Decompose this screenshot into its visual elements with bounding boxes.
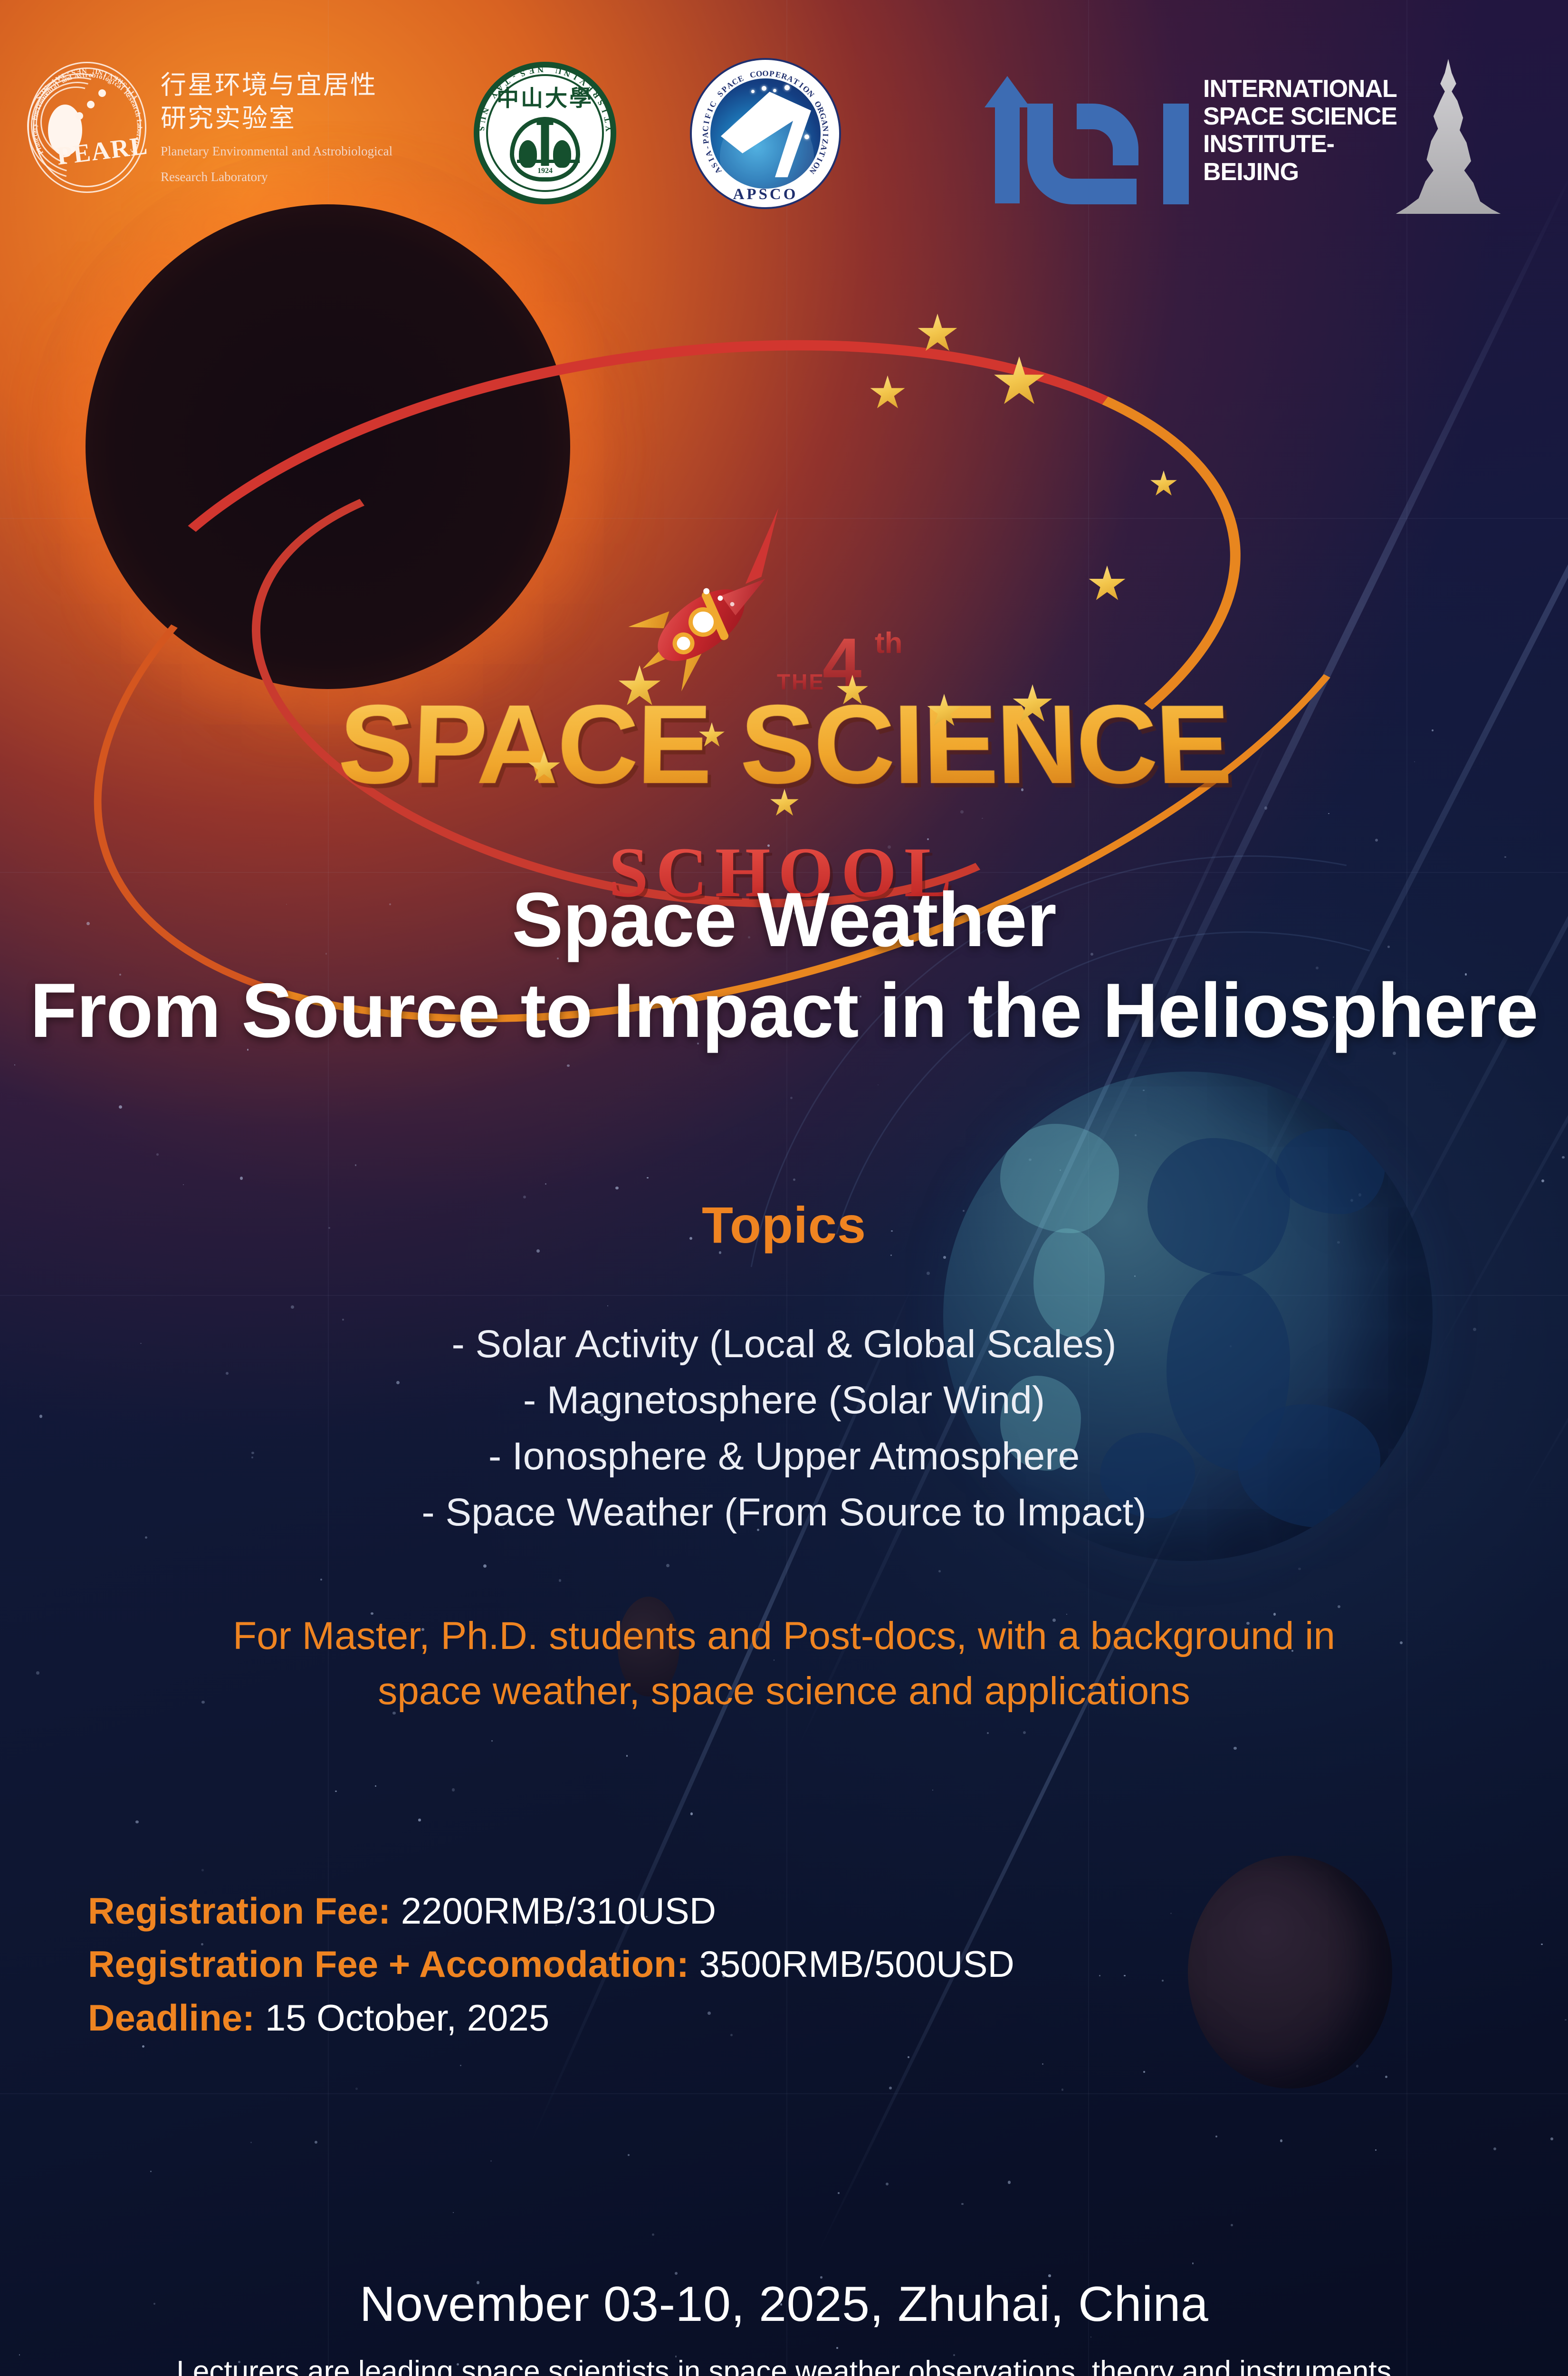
background-star: [675, 2272, 678, 2275]
background-star: [886, 2183, 889, 2185]
background-star: [961, 2203, 963, 2205]
topics-heading: Topics: [0, 1195, 1568, 1255]
apsco-acronym: APSCO: [692, 186, 839, 203]
background-star: [1143, 2071, 1145, 2073]
ring-text-char: N: [820, 125, 830, 132]
ring-text-char: I: [821, 134, 830, 137]
topic-item: - Solar Activity (Local & Global Scales): [0, 1316, 1568, 1372]
background-star: [790, 1097, 793, 1099]
edition-ordinal-suffix: th: [875, 626, 903, 660]
pagoda-icon: [1391, 59, 1505, 214]
background-star: [483, 1564, 487, 1568]
fee-value: 3500RMB/500USD: [699, 1943, 1014, 1985]
background-star: [1280, 2139, 1283, 2142]
pearl-english-line2: Research Laboratory: [161, 168, 392, 186]
background-star: [250, 2142, 252, 2144]
ring-text-char: T: [602, 116, 613, 124]
dark-planet-graphic: [1188, 1856, 1392, 2089]
background-star: [1170, 1913, 1172, 1914]
ring-text-char: N: [563, 67, 572, 79]
background-star: [142, 2045, 144, 2048]
grid-line-horizontal: [0, 2093, 1568, 2094]
topics-list: - Solar Activity (Local & Global Scales)…: [0, 1316, 1568, 1541]
background-star: [908, 2056, 909, 2058]
background-star: [666, 1564, 669, 1567]
poster-canvas: Planetary Environmental and Astrobiologi…: [0, 0, 1568, 2376]
background-star: [150, 2171, 151, 2172]
ring-text-char: Y: [488, 89, 500, 100]
background-star: [355, 2088, 358, 2090]
background-star: [490, 2160, 492, 2162]
background-star: [1215, 2136, 1217, 2137]
ring-text-char: N: [479, 106, 491, 115]
background-star: [453, 2212, 454, 2213]
ring-text-char: P: [769, 69, 774, 79]
ring-text-char: y: [30, 123, 38, 127]
background-star: [320, 1579, 322, 1581]
background-star: [1231, 2224, 1233, 2226]
background-star: [1385, 2076, 1388, 2079]
event-headline: Space Weather From Source to Impact in t…: [0, 874, 1568, 1056]
background-star: [1550, 2137, 1553, 2140]
fee-row: Deadline: 15 October, 2025: [88, 1991, 1014, 2044]
ring-text-char: r: [30, 127, 38, 130]
space-science-school-logo: THE 4 th SPACE SCIENCE SCHOOL: [0, 266, 1568, 832]
background-star: [375, 1785, 376, 1787]
background-star: [1162, 1980, 1164, 1982]
background-star: [1090, 2337, 1091, 2338]
background-star: [1192, 2262, 1194, 2264]
pearl-english-line1: Planetary Environmental and Astrobiologi…: [161, 142, 392, 160]
ring-text-char: C: [701, 125, 711, 132]
headline-line-2: From Source to Impact in the Heliosphere: [0, 965, 1568, 1056]
background-star: [628, 2154, 629, 2156]
ring-text-char: I: [572, 72, 579, 82]
background-star: [1356, 2065, 1359, 2068]
fees-block: Registration Fee: 2200RMB/310USD Registr…: [88, 1884, 1014, 2044]
ring-text-char: E: [76, 67, 81, 75]
ring-text-char: P: [701, 138, 711, 144]
ring-text-char: Y: [603, 125, 614, 132]
fee-label: Registration Fee + Accomodation:: [88, 1943, 689, 1985]
ring-text-char: E: [527, 65, 535, 76]
background-star: [838, 2192, 840, 2194]
background-star: [14, 1064, 15, 1065]
ring-text-char: -: [702, 145, 712, 150]
issi-line-3: INSTITUTE-: [1203, 130, 1397, 158]
background-star: [652, 2233, 654, 2236]
background-star: [647, 1177, 648, 1178]
pearl-seal-icon: Planetary Environmental and Astrobiologi…: [26, 61, 147, 194]
background-star: [889, 2087, 892, 2089]
ring-text-char: N: [81, 66, 87, 75]
fee-row: Registration Fee + Accomodation: 3500RMB…: [88, 1937, 1014, 1991]
pearl-logo: Planetary Environmental and Astrobiologi…: [26, 61, 392, 194]
ring-text-char: -: [511, 72, 518, 82]
issi-line-1: INTERNATIONAL: [1203, 75, 1397, 103]
audience-line-2: space weather, space science and applica…: [0, 1664, 1568, 1719]
ring-text-char: A: [494, 82, 506, 94]
background-star: [183, 1184, 184, 1185]
background-star: [1042, 2063, 1043, 2065]
background-star: [335, 1791, 337, 1792]
topic-item: - Space Weather (From Source to Impact): [0, 1485, 1568, 1541]
background-star: [1565, 2019, 1566, 2021]
background-star: [545, 1183, 546, 1185]
background-star: [1008, 2181, 1011, 2184]
ring-text-char: U: [477, 115, 488, 124]
ring-text-char: U: [555, 65, 563, 76]
sysu-logo: 中山大學 1924 SUN YAT-SEN UNIVERSITY: [474, 62, 616, 204]
ring-text-char: O: [755, 69, 763, 79]
sysu-english-ring: SUN YAT-SEN UNIVERSITY: [480, 68, 610, 198]
background-star: [1541, 1944, 1543, 1945]
background-star: [491, 1740, 493, 1742]
school-main-title: SPACE SCIENCE: [0, 680, 1568, 810]
pearl-ring-text: Planetary Environmental and Astrobiologi…: [28, 62, 146, 193]
background-star: [418, 1819, 421, 1821]
audience-description: For Master, Ph.D. students and Post-docs…: [0, 1609, 1568, 1719]
background-star: [201, 1869, 203, 1871]
fee-label: Registration Fee:: [88, 1890, 391, 1932]
background-star: [1375, 2149, 1377, 2151]
background-star: [156, 1153, 158, 1155]
ring-text-char: O: [762, 69, 768, 78]
background-star: [932, 1790, 933, 1791]
deadline-value: 15 October, 2025: [265, 1997, 549, 2039]
apsco-logo: ASIA-PACIFIC SPACE COOPERATION ORGANIZAT…: [690, 58, 841, 209]
background-star: [452, 1788, 455, 1791]
background-star: [460, 2065, 461, 2066]
ring-text-char: A: [701, 132, 710, 138]
background-star: [836, 2347, 838, 2348]
background-star: [315, 2141, 317, 2144]
event-venue-dates: November 03-10, 2025, Zhuhai, China: [0, 2276, 1568, 2333]
background-star: [291, 1305, 294, 1309]
background-star: [355, 1164, 356, 1166]
background-star: [690, 1812, 693, 1815]
issi-beijing-logo: INTERNATIONAL SPACE SCIENCE INSTITUTE- B…: [984, 57, 1535, 214]
background-star: [240, 1177, 243, 1179]
fee-value: 2200RMB/310USD: [401, 1890, 716, 1932]
topic-item: - Magnetosphere (Solar Wind): [0, 1372, 1568, 1428]
background-star: [567, 1064, 570, 1067]
ring-text-char: A: [819, 119, 830, 126]
ring-text-char: S: [596, 98, 607, 107]
ring-text-char: I: [600, 107, 610, 114]
ring-text-char: F: [703, 113, 713, 120]
deadline-label: Deadline:: [88, 1997, 255, 2039]
background-star: [1493, 2147, 1496, 2150]
issi-wordmark: INTERNATIONAL SPACE SCIENCE INSTITUTE- B…: [1203, 75, 1397, 186]
issi-line-4: BEIJING: [1203, 158, 1397, 186]
background-star: [1061, 2089, 1063, 2090]
headline-line-1: Space Weather: [0, 874, 1568, 965]
pearl-text-block: 行星环境与宜居性 研究实验室 Planetary Environmental a…: [161, 69, 392, 186]
background-star: [119, 1105, 122, 1109]
background-star: [615, 1187, 619, 1190]
background-star: [1124, 1975, 1126, 1977]
sponsor-logo-row: Planetary Environmental and Astrobiologi…: [0, 0, 1568, 223]
ring-text-char: T: [501, 76, 512, 87]
ring-text-char: a: [31, 130, 39, 134]
ring-text-char: I: [702, 120, 712, 125]
issi-line-2: SPACE SCIENCE: [1203, 103, 1397, 130]
pearl-chinese-line2: 研究实验室: [161, 102, 392, 134]
ring-text-char: N: [537, 64, 544, 75]
lecturers-note: Lecturers are leading space scientists i…: [0, 2355, 1568, 2376]
topic-item: - Ionosphere & Upper Atmosphere: [0, 1428, 1568, 1485]
background-star: [626, 1755, 628, 1757]
ring-text-char: R: [590, 89, 602, 100]
background-star: [607, 1305, 609, 1307]
audience-line-1: For Master, Ph.D. students and Post-docs…: [0, 1609, 1568, 1664]
background-star: [135, 1820, 138, 1823]
background-star: [1099, 1975, 1100, 1976]
apsco-ring-text: ASIA-PACIFIC SPACE COOPERATION ORGANIZAT…: [694, 62, 837, 205]
ring-text-char: S: [519, 67, 527, 78]
pearl-chinese-line1: 行星环境与宜居性: [161, 69, 392, 101]
ring-text-char: S: [476, 126, 487, 131]
fee-row: Registration Fee: 2200RMB/310USD: [88, 1884, 1014, 1937]
background-star: [559, 1579, 561, 1581]
